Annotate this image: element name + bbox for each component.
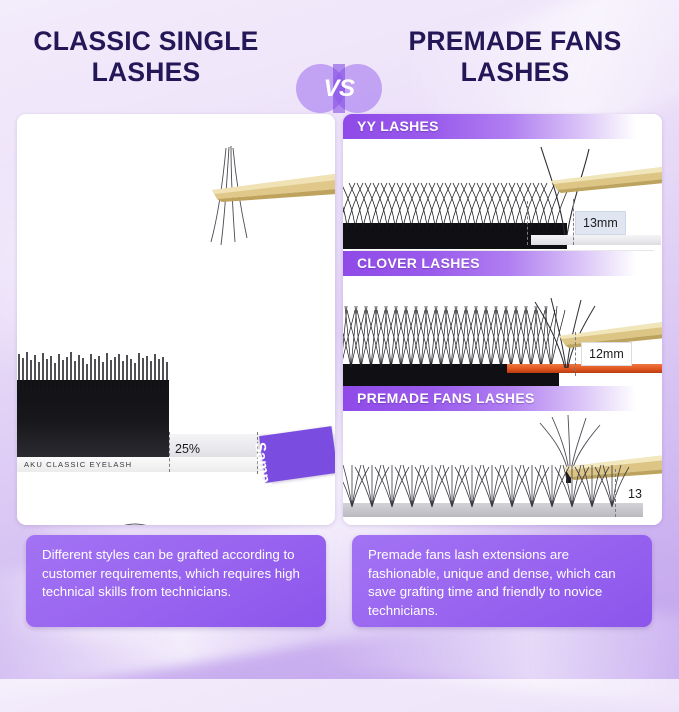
page-title-left: CLASSIC SINGLE LASHES: [12, 26, 280, 88]
classic-lash-band: [17, 352, 169, 457]
section-body-clover: 12mm: [343, 276, 662, 386]
measure-dash-line: [527, 201, 528, 245]
percent-label: 25%: [175, 442, 200, 456]
measurement-label-yy: 13mm: [575, 211, 626, 235]
section-title-yy: YY LASHES: [343, 114, 662, 139]
vs-label: VS: [296, 64, 382, 113]
measurement-label-clover: 12mm: [581, 342, 632, 366]
page-title-right: PREMADE FANS LASHES: [381, 26, 649, 88]
right-caption: Premade fans lash extensions are fashion…: [352, 535, 652, 627]
section-body-yy: 13mm: [343, 139, 662, 251]
vs-badge: VS: [296, 64, 382, 113]
measure-dash-line: [169, 432, 170, 472]
section-premade-fans: PREMADE FANS LASHES: [343, 386, 662, 525]
section-title-premade: PREMADE FANS LASHES: [343, 386, 662, 411]
section-body-premade: 13: [343, 411, 662, 525]
single-lash-curves: [17, 499, 335, 525]
section-title-clover: CLOVER LASHES: [343, 251, 662, 276]
measure-dash-line: [573, 199, 574, 245]
premade-fans-band: [343, 463, 633, 517]
header: CLASSIC SINGLE LASHES VS PREMADE FANS LA…: [0, 26, 679, 102]
sample-ribbon-label: Sample: [251, 441, 275, 496]
measure-dash-line: [615, 469, 616, 517]
premade-fans-card: YY LASHES: [343, 114, 662, 525]
section-clover-lashes: CLOVER LASHES: [343, 251, 662, 386]
measure-dash-line: [575, 332, 576, 376]
brand-label: AKU CLASSIC EYELASH: [24, 460, 132, 469]
tweezers-with-classic-lash-icon: [167, 142, 335, 257]
classic-lashes-card: AKU CLASSIC EYELASH 25% Sample: [17, 114, 335, 525]
measurement-label-premade: 13: [621, 483, 649, 505]
left-caption: Different styles can be grafted accordin…: [26, 535, 326, 627]
section-yy-lashes: YY LASHES: [343, 114, 662, 251]
sample-ribbon: Sample: [259, 426, 335, 483]
